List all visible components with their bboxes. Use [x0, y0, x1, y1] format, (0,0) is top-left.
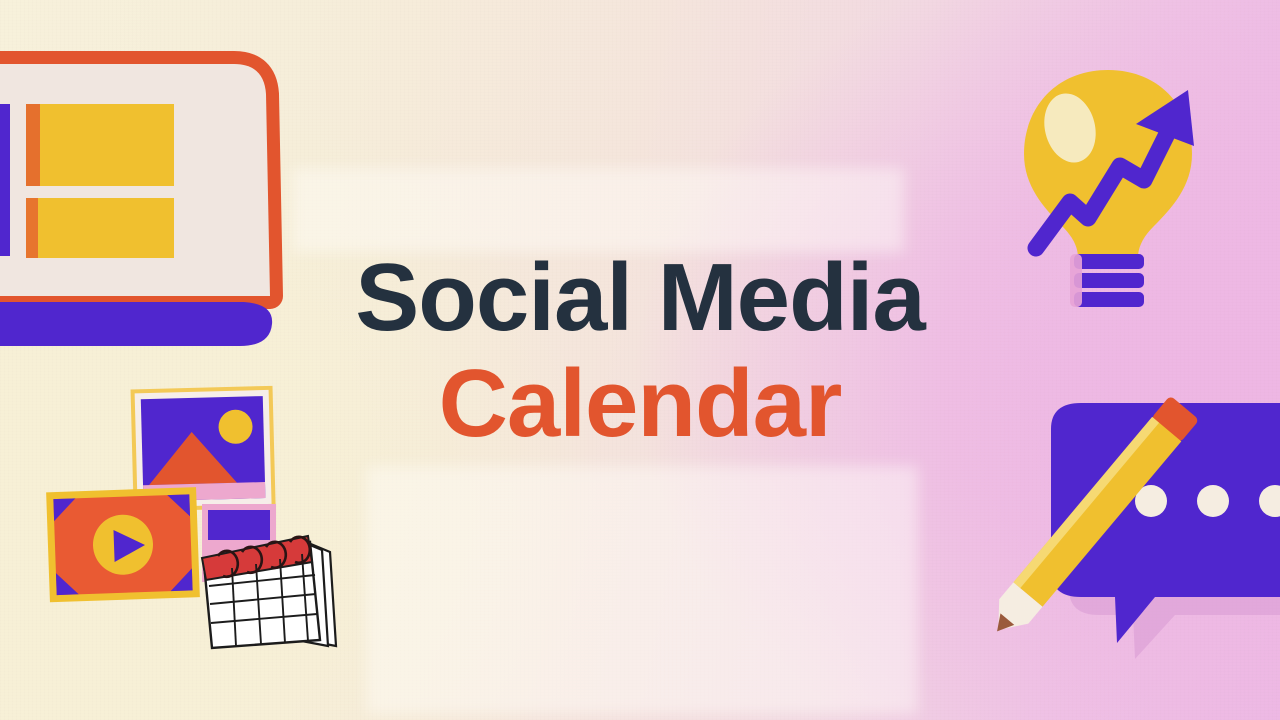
video-card: [46, 487, 200, 602]
page-title: Social Media Calendar: [0, 250, 1280, 452]
poster-canvas: Social Media Calendar: [0, 0, 1280, 720]
laptop-screen-content: [0, 104, 174, 258]
title-line-accent: Calendar: [0, 356, 1280, 452]
title-line-primary: Social Media: [0, 250, 1280, 346]
blurred-subtitle-band: [292, 168, 904, 252]
calendar-icon-illustration: [186, 528, 350, 658]
blurred-body-band: [366, 466, 918, 714]
